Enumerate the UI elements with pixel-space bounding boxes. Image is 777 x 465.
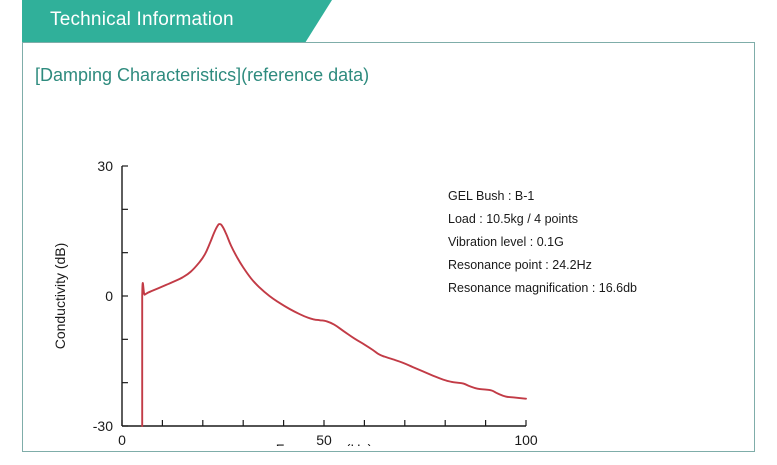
y-tick-label: -30 <box>93 418 113 434</box>
y-tick-label: 0 <box>105 288 113 304</box>
y-axis-ticks <box>122 166 128 426</box>
x-tick-label: 100 <box>514 432 538 446</box>
header-title: Technical Information <box>50 9 234 31</box>
section-title: [Damping Characteristics](reference data… <box>35 65 369 86</box>
content-panel: [Damping Characteristics](reference data… <box>22 42 755 452</box>
x-axis-ticks <box>122 420 526 426</box>
x-tick-label: 0 <box>118 432 126 446</box>
y-axis-tick-labels: -30030 <box>93 158 113 434</box>
y-tick-label: 30 <box>97 158 113 174</box>
y-axis-title: Conductivity (dB) <box>52 243 68 350</box>
spec-line-gel-bush: GEL Bush : B-1 <box>448 185 728 208</box>
spec-line-resonance-mag: Resonance magnification : 16.6db <box>448 277 728 300</box>
x-axis-title: Frequency (Hz) <box>276 441 372 446</box>
spec-line-load: Load : 10.5kg / 4 points <box>448 208 728 231</box>
spec-line-resonance-pt: Resonance point : 24.2Hz <box>448 254 728 277</box>
spec-line-vibration: Vibration level : 0.1G <box>448 231 728 254</box>
header-banner: Technical Information <box>22 0 332 43</box>
spec-annotation-list: GEL Bush : B-1 Load : 10.5kg / 4 points … <box>448 185 728 300</box>
